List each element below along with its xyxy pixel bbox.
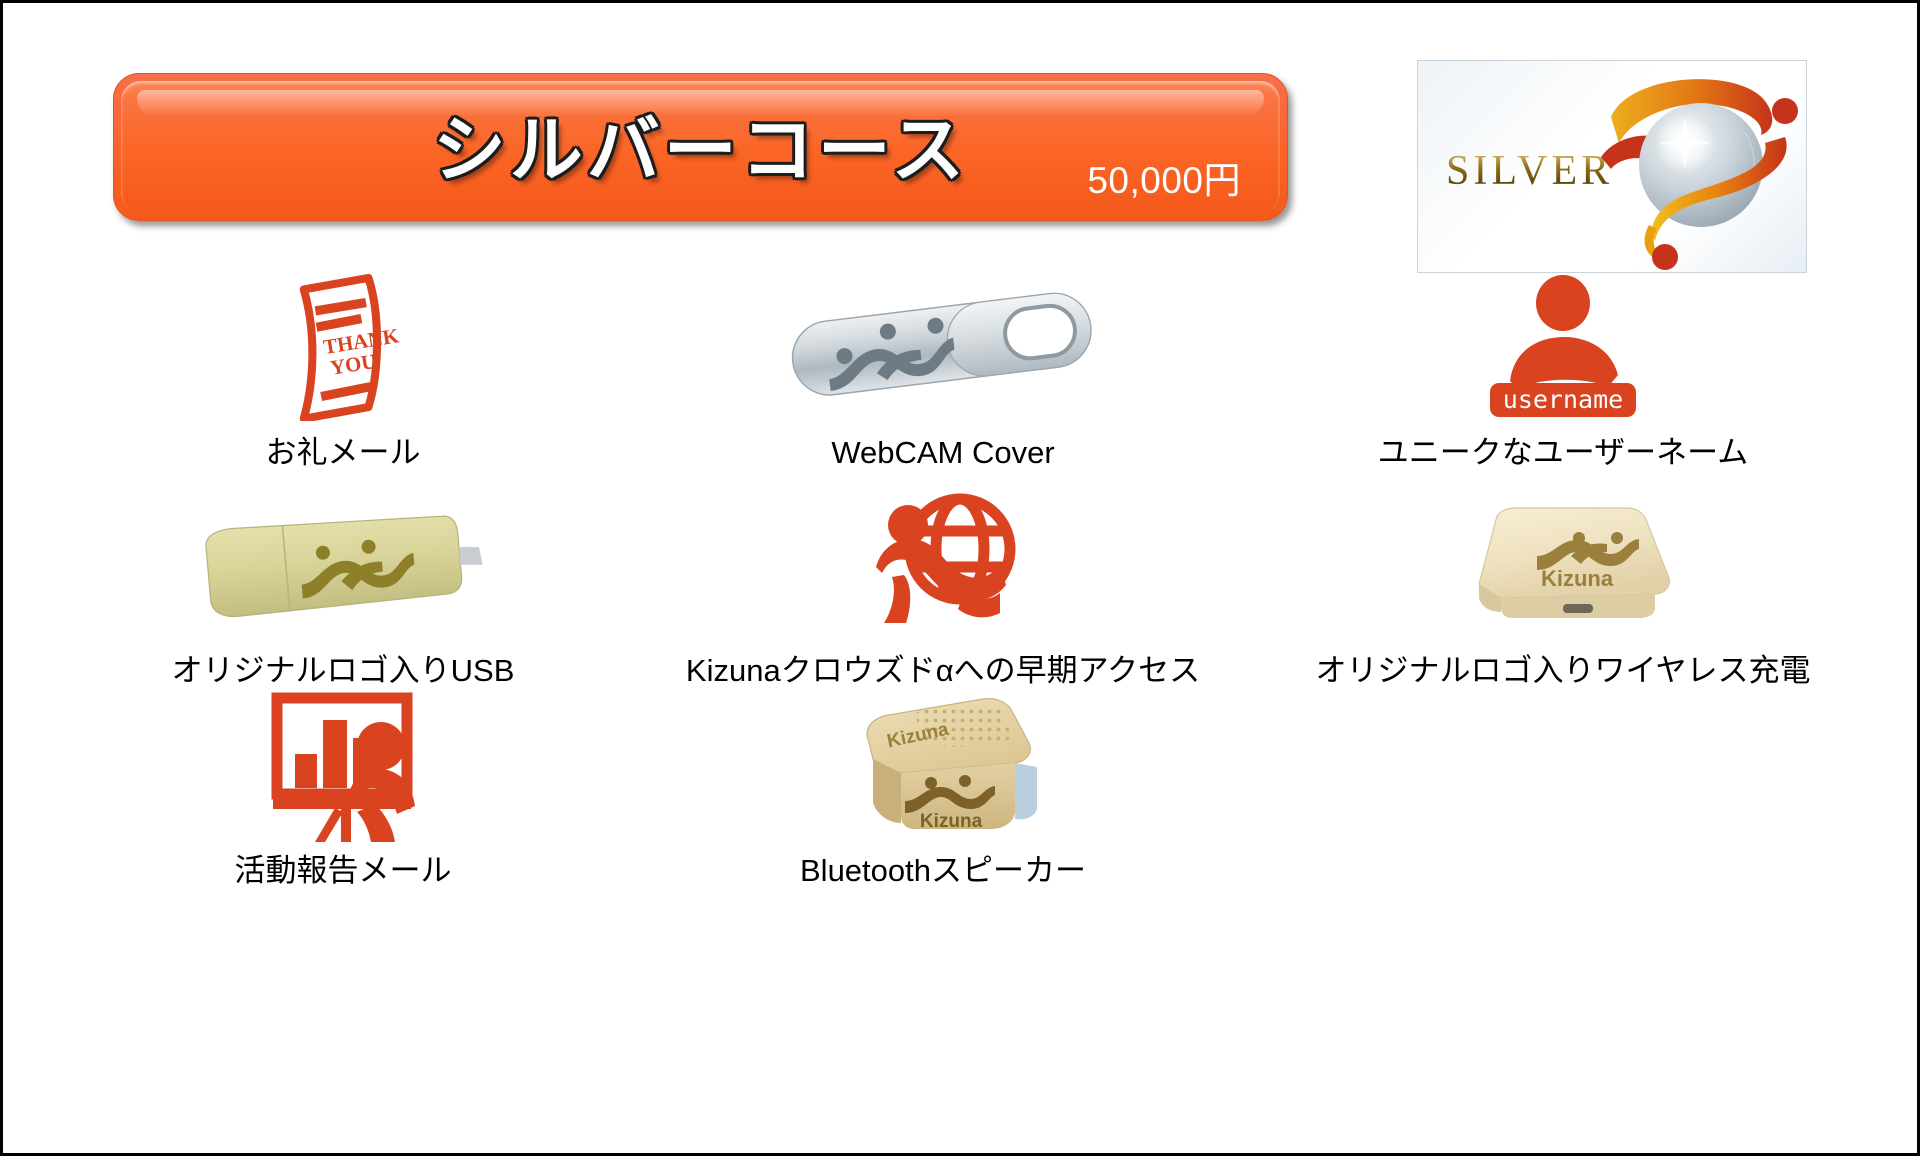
reward-item-wireless-charger: Kizuna オリジナルロゴ入りワイヤレス充電 [1263,489,1863,690]
silver-badge: SILVER [1417,60,1807,273]
reward-item-label: Kizunaクロウズドαへの早期アクセス [623,653,1263,690]
speaker-engraved-text-front: Kizuna [920,811,983,832]
wooden-usb-photo [63,489,623,639]
reward-item-kizuna-closed-alpha: Kizunaクロウズドαへの早期アクセス [623,489,1263,690]
webcam-cover-photo [623,271,1263,421]
course-price: 50,000円 [1087,150,1241,204]
course-title-banner: シルバーコース 50,000円 [113,73,1288,221]
reward-item-label: ユニークなユーザーネーム [1263,435,1863,472]
wooden-bluetooth-speaker-photo: Kizuna Kizuna [623,689,1263,839]
reward-item-thank-you-mail: THANK YOU お礼メール [63,271,623,472]
rewards-grid: THANK YOU お礼メール [63,271,1863,1111]
charger-engraved-text: Kizuna [1540,566,1613,591]
reward-item-label: Bluetoothスピーカー [623,853,1263,890]
wooden-wireless-charger-photo: Kizuna [1263,489,1863,639]
reward-item-webcam-cover: WebCAM Cover [623,271,1263,472]
silver-sphere-ribbon-icon [1589,65,1804,270]
reward-item-bluetooth-speaker: Kizuna Kizuna Bluetoothスピーカー [623,689,1263,890]
username-badge-text: username [1503,385,1623,414]
user-badge-icon: username [1263,271,1863,421]
globe-runner-icon [623,489,1263,639]
reward-item-label: オリジナルロゴ入りワイヤレス充電 [1263,653,1863,690]
reward-item-activity-report-mail: 活動報告メール [63,689,623,890]
presentation-board-icon [63,689,623,839]
reward-item-unique-username: username ユニークなユーザーネーム [1263,271,1863,472]
slide-canvas: シルバーコース 50,000円 SILVER [0,0,1920,1156]
reward-item-label: WebCAM Cover [623,435,1263,472]
reward-item-label: 活動報告メール [63,853,623,890]
reward-item-label: お礼メール [63,435,623,472]
thank-you-letter-icon: THANK YOU [63,271,623,421]
reward-item-original-logo-usb: オリジナルロゴ入りUSB [63,489,623,690]
